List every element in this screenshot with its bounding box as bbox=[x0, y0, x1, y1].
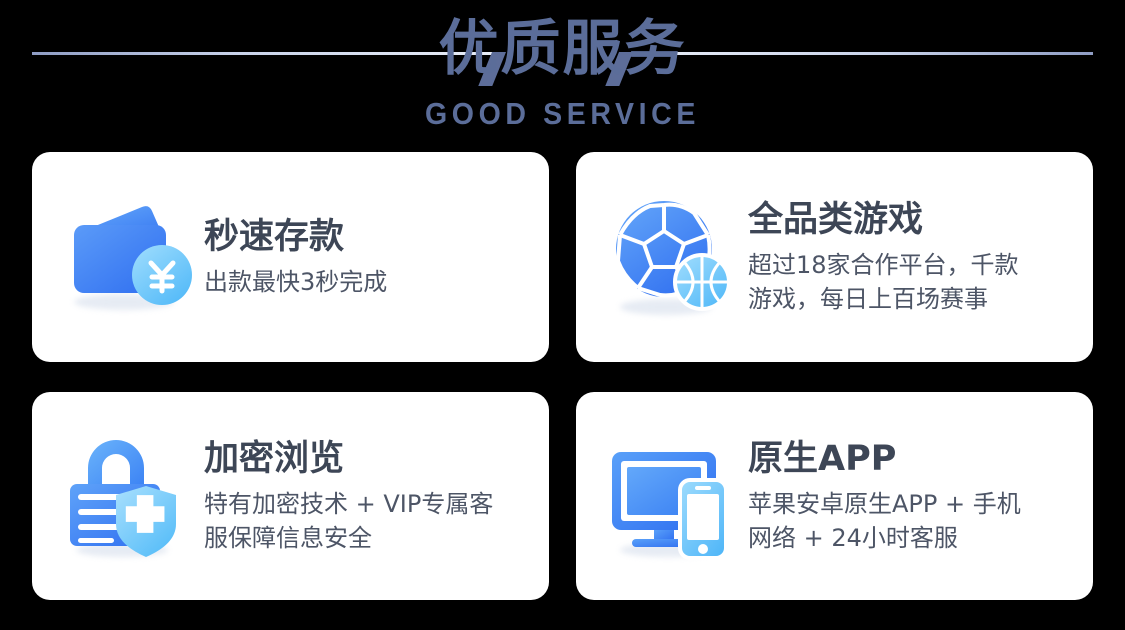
feature-card-deposit[interactable]: 秒速存款 出款最快3秒完成 bbox=[32, 152, 549, 362]
subtitle-line: 超过18家合作平台，千款 bbox=[748, 248, 1075, 282]
lock-shield-icon bbox=[58, 426, 198, 566]
feature-card-native-app-title: 原生APP bbox=[748, 437, 1075, 481]
subtitle-line: 苹果安卓原生APP + 手机 bbox=[748, 487, 1075, 521]
feature-card-games-text: 全品类游戏 超过18家合作平台，千款 游戏，每日上百场赛事 bbox=[742, 198, 1075, 316]
feature-card-encryption[interactable]: 加密浏览 特有加密技术 + VIP专属客 服保障信息安全 bbox=[32, 392, 549, 600]
subtitle-line: 网络 + 24小时客服 bbox=[748, 521, 1075, 555]
feature-card-encryption-subtitle: 特有加密技术 + VIP专属客 服保障信息安全 bbox=[204, 487, 531, 555]
feature-card-native-app[interactable]: 原生APP 苹果安卓原生APP + 手机 网络 + 24小时客服 bbox=[576, 392, 1093, 600]
page-subtitle: GOOD SERVICE bbox=[45, 96, 1080, 132]
subtitle-line: 游戏，每日上百场赛事 bbox=[748, 282, 1075, 316]
feature-card-deposit-text: 秒速存款 出款最快3秒完成 bbox=[198, 215, 531, 299]
feature-card-deposit-subtitle: 出款最快3秒完成 bbox=[204, 265, 531, 299]
subtitle-line: 服保障信息安全 bbox=[204, 521, 531, 555]
wallet-yen-icon bbox=[58, 187, 198, 327]
page-title: 优质服务 bbox=[0, 13, 1125, 85]
feature-card-grid: 秒速存款 出款最快3秒完成 bbox=[32, 152, 1093, 600]
feature-card-native-app-subtitle: 苹果安卓原生APP + 手机 网络 + 24小时客服 bbox=[748, 487, 1075, 555]
subtitle-line: 特有加密技术 + VIP专属客 bbox=[204, 487, 531, 521]
soccer-basketball-icon bbox=[602, 187, 742, 327]
feature-card-encryption-text: 加密浏览 特有加密技术 + VIP专属客 服保障信息安全 bbox=[198, 437, 531, 555]
subtitle-line: 出款最快3秒完成 bbox=[204, 265, 531, 299]
monitor-phone-icon bbox=[602, 426, 742, 566]
feature-card-games-subtitle: 超过18家合作平台，千款 游戏，每日上百场赛事 bbox=[748, 248, 1075, 316]
feature-card-deposit-title: 秒速存款 bbox=[204, 215, 531, 259]
feature-card-games[interactable]: 全品类游戏 超过18家合作平台，千款 游戏，每日上百场赛事 bbox=[576, 152, 1093, 362]
feature-card-native-app-text: 原生APP 苹果安卓原生APP + 手机 网络 + 24小时客服 bbox=[742, 437, 1075, 555]
feature-card-games-title: 全品类游戏 bbox=[748, 198, 1075, 242]
feature-card-encryption-title: 加密浏览 bbox=[204, 437, 531, 481]
page-header: 优质服务 GOOD SERVICE bbox=[0, 0, 1125, 140]
